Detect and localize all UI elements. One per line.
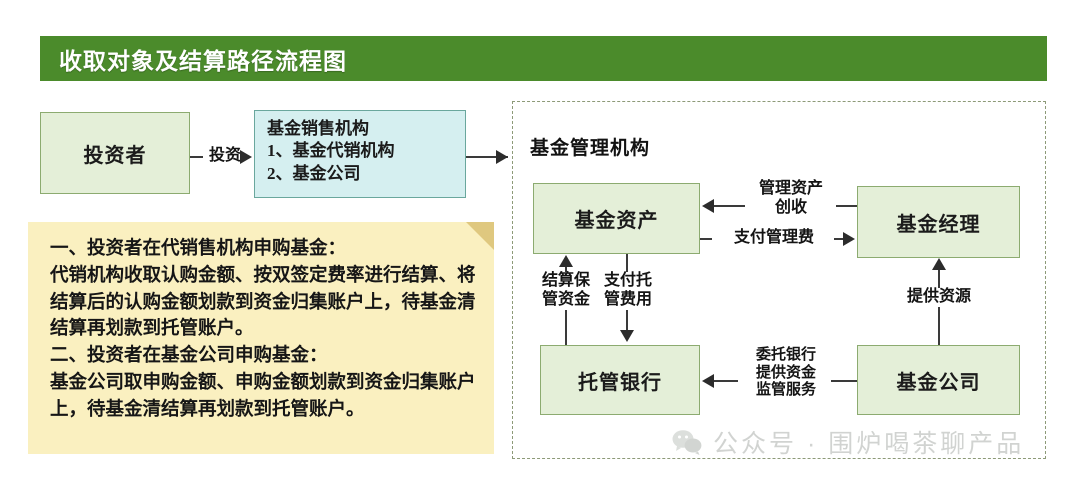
edge-pay-mgmt-fee-arrowhead [843,232,855,246]
edge-provide-resources-line [938,270,940,345]
node-investor[interactable]: 投资者 [40,112,190,194]
node-fund-company-label: 基金公司 [897,366,981,395]
edge-provide-resources-arrowhead [932,258,946,270]
edge-manage-assets-label: 管理资产 创收 [745,180,837,218]
edge-provide-resources-label: 提供资源 [888,288,990,307]
node-fund-manager-label: 基金经理 [897,208,981,237]
node-fund-assets[interactable]: 基金资产 [533,183,700,254]
edge-entrust-bank-arrowhead [702,374,714,388]
edge-settle-custody-label: 结算保 管资金 [532,272,600,310]
node-fund-assets-label: 基金资产 [575,204,659,233]
edge-pay-custody-fee-label: 支付托 管费用 [595,272,661,310]
diagram-title-bar: 收取对象及结算路径流程图 [40,36,1047,81]
watermark-text: 公众号 · 围炉喝茶聊产品 [713,424,1024,460]
node-sales-organization-line-2: 1、基金代销机构 [267,140,455,162]
fund-management-panel-title: 基金管理机构 [530,133,650,160]
node-fund-manager[interactable]: 基金经理 [857,186,1020,258]
node-trust-bank-label: 托管银行 [578,366,662,395]
explanation-note: 一、投资者在代销售机构申购基金： 代销机构收取认购金额、按双签定费率进行结算、将… [28,222,494,454]
note-folded-corner-icon [466,222,494,250]
node-investor-label: 投资者 [84,139,147,168]
note-paragraph-2-heading: 二、投资者在基金公司申购基金： [50,343,478,370]
note-paragraph-1-heading: 一、投资者在代销售机构申购基金： [50,236,478,263]
edge-manage-assets-line-right [836,205,857,207]
note-paragraph-1-body: 代销机构收取认购金额、按双签定费率进行结算、将结算后的认购金额划款到资金归集账户… [50,263,478,343]
edge-entrust-bank-line-right [831,380,857,382]
edge-manage-assets-arrowhead [702,199,714,213]
node-sales-organization[interactable]: 基金销售机构 1、基金代销机构 2、基金公司 [254,110,466,198]
edge-invest-arrowhead [240,150,252,164]
edge-pay-mgmt-fee-label: 支付管理费 [712,229,836,248]
node-sales-organization-line-3: 2、基金公司 [267,163,455,185]
node-fund-company[interactable]: 基金公司 [857,345,1020,415]
page-title: 收取对象及结算路径流程图 [59,42,347,76]
node-trust-bank[interactable]: 托管银行 [540,345,700,415]
edge-sales-to-panel-arrowhead [496,150,508,164]
note-paragraph-2-body: 基金公司取申购金额、申购金额划款到资金归集账户上，待基金清结算再划款到托管账户。 [50,370,478,424]
edge-entrust-bank-label: 委托银行 提供资金 监管服务 [738,347,834,400]
diagram-canvas: 收取对象及结算路径流程图 投资者 投资 基金销售机构 1、基金代销机构 2、基金… [0,0,1080,491]
node-sales-organization-line-1: 基金销售机构 [267,118,455,140]
watermark: 公众号 · 围炉喝茶聊产品 [672,424,1024,460]
wechat-icon [672,429,702,455]
edge-pay-custody-fee-arrowhead [620,330,634,342]
edge-settle-custody-arrowhead [559,255,573,267]
